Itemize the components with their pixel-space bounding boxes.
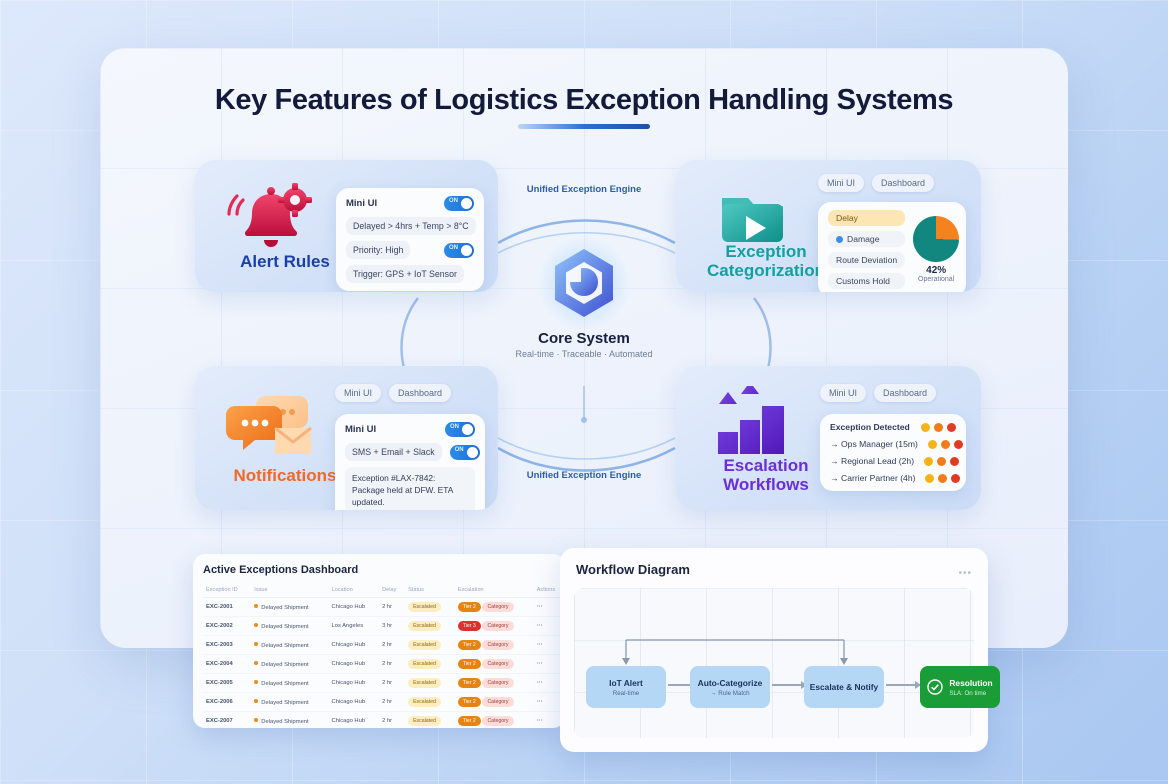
cell-status: Escalated xyxy=(405,712,455,729)
col-exception-id[interactable]: Exception ID xyxy=(203,583,251,598)
escalation-badge: Tier 2 xyxy=(458,659,481,669)
table-body: EXC-2001Delayed ShipmentChicago Hub2 hrE… xyxy=(203,598,565,729)
cell-location: Chicago Hub xyxy=(329,693,380,712)
severity-dots xyxy=(921,423,956,432)
cell-delay: 2 hr xyxy=(379,712,405,729)
notifications-mini-ui[interactable]: Mini UI ON SMS + Email + Slack ON Except… xyxy=(335,414,485,510)
status-dot-icon xyxy=(254,699,258,703)
col-location[interactable]: Location xyxy=(329,583,380,598)
table-header-row: Exception ID Issue Location Delay Status… xyxy=(203,583,565,598)
cell-escalation: Tier 2 Category xyxy=(455,655,534,674)
escalation-badge: Tier 2 xyxy=(458,678,481,688)
node-title: Resolution xyxy=(949,678,992,688)
col-status[interactable]: Status xyxy=(405,583,455,598)
status-badge: Escalated xyxy=(408,640,441,650)
status-dot-icon xyxy=(254,680,258,684)
dot-orange xyxy=(941,440,950,449)
status-badge: Escalated xyxy=(408,678,441,688)
dot-red xyxy=(950,457,959,466)
cell-exception-id: EXC-2003 xyxy=(203,636,251,655)
dot-orange xyxy=(934,423,943,432)
cell-status: Escalated xyxy=(405,598,455,617)
status-badge: Escalated xyxy=(408,659,441,669)
cell-location: Los Angeles xyxy=(329,617,380,636)
hub-title: Core System xyxy=(484,330,684,347)
table-row[interactable]: EXC-2007Delayed ShipmentChicago Hub2 hrE… xyxy=(203,712,565,729)
cell-delay: 2 hr xyxy=(379,693,405,712)
status-badge: Escalated xyxy=(408,716,441,726)
escalation-step-label: → Regional Lead (2h) xyxy=(830,456,914,466)
dot-yellow xyxy=(925,474,934,483)
toggle-on-label-2: ON xyxy=(449,245,458,251)
cell-location: Chicago Hub xyxy=(329,598,380,617)
cell-location: Chicago Hub xyxy=(329,655,380,674)
cell-escalation: Tier 2 Category xyxy=(455,636,534,655)
table-row[interactable]: EXC-2004Delayed ShipmentChicago Hub2 hrE… xyxy=(203,655,565,674)
cell-status: Escalated xyxy=(405,655,455,674)
pill-mini-ui-escalation[interactable]: Mini UI xyxy=(820,384,866,402)
dot-orange xyxy=(937,457,946,466)
escalation-badge: Tier 2 xyxy=(458,640,481,650)
table-row[interactable]: EXC-2001Delayed ShipmentChicago Hub2 hrE… xyxy=(203,598,565,617)
workflow-menu-icon[interactable]: ••• xyxy=(958,568,972,579)
category-badge: Category xyxy=(482,602,513,612)
title-underline xyxy=(518,124,650,129)
priority-toggle[interactable]: ON xyxy=(444,243,474,258)
category-badge: Category xyxy=(482,621,513,631)
cell-location: Chicago Hub xyxy=(329,636,380,655)
card-notifications[interactable]: Notifications Mini UI Dashboard Mini UI … xyxy=(195,366,498,510)
pill-mini-ui[interactable]: Mini UI xyxy=(818,174,864,192)
cell-exception-id: EXC-2004 xyxy=(203,655,251,674)
categorization-mini-ui[interactable]: Delay Damage Route Deviation Customs Hol… xyxy=(818,202,966,292)
node-subtitle: Real-time xyxy=(613,690,639,697)
cell-location: Chicago Hub xyxy=(329,712,380,729)
status-dot-icon xyxy=(254,661,258,665)
category-item-delay[interactable]: Delay xyxy=(828,210,905,226)
workflow-diagram-panel[interactable]: Workflow Diagram ••• IoT Alert Real-time… xyxy=(560,548,988,752)
cell-delay: 3 hr xyxy=(379,617,405,636)
escalation-badge: Tier 2 xyxy=(458,602,481,612)
rule-trigger: Trigger: GPS + IoT Sensor xyxy=(346,265,464,283)
hub-subtitle: Real-time · Traceable · Automated xyxy=(484,349,684,359)
cell-delay: 2 hr xyxy=(379,655,405,674)
severity-dots xyxy=(928,440,963,449)
table-row[interactable]: EXC-2002Delayed ShipmentLos Angeles3 hrE… xyxy=(203,617,565,636)
cell-issue: Delayed Shipment xyxy=(251,598,328,617)
category-item-route-deviation[interactable]: Route Deviation xyxy=(828,252,905,268)
cell-exception-id: EXC-2005 xyxy=(203,674,251,693)
cell-escalation: Tier 3 Category xyxy=(455,617,534,636)
pie-value: 42% xyxy=(913,265,959,276)
table-row[interactable]: EXC-2003Delayed ShipmentChicago Hub2 hrE… xyxy=(203,636,565,655)
notifications-pill-row: Mini UI Dashboard xyxy=(335,384,451,402)
category-badge: Category xyxy=(482,716,513,726)
col-issue[interactable]: Issue xyxy=(251,583,328,598)
toggle-on-label: ON xyxy=(449,198,458,204)
pie-graphic xyxy=(913,216,959,262)
hexagon-core-icon xyxy=(545,244,623,322)
arrow-3-icon xyxy=(886,684,920,686)
cell-escalation: Tier 2 Category xyxy=(455,712,534,729)
pill-dashboard-escalation[interactable]: Dashboard xyxy=(874,384,936,402)
pill-mini-ui-notifications[interactable]: Mini UI xyxy=(335,384,381,402)
cell-issue: Delayed Shipment xyxy=(251,674,328,693)
card-exception-categorization[interactable]: Exception Categorization Mini UI Dashboa… xyxy=(676,160,981,292)
node-subtitle: SLA: On time xyxy=(949,690,992,697)
arrow-2-icon xyxy=(772,684,806,686)
dashboard-title: Active Exceptions Dashboard xyxy=(203,564,565,576)
workflow-node-resolution[interactable]: Resolution SLA: On time xyxy=(920,666,1000,708)
escalation-step-label: → Carrier Partner (4h) xyxy=(830,473,915,483)
dot-yellow xyxy=(928,440,937,449)
category-list: Delay Damage Route Deviation Customs Hol… xyxy=(828,210,905,289)
escalation-step-row: → Ops Manager (15m) xyxy=(830,439,956,449)
status-dot-icon xyxy=(254,604,258,608)
rule-priority: Priority: High xyxy=(346,241,410,259)
status-dot-icon xyxy=(254,642,258,646)
dot-orange xyxy=(938,474,947,483)
node-title: Auto-Categorize xyxy=(698,678,763,688)
cell-escalation: Tier 2 Category xyxy=(455,693,534,712)
stairs-arrows-icon xyxy=(704,386,800,464)
notification-message: Exception #LAX-7842: Package held at DFW… xyxy=(345,467,475,510)
status-badge: Escalated xyxy=(408,697,441,707)
category-badge: Category xyxy=(482,640,513,650)
active-exceptions-dashboard[interactable]: Active Exceptions Dashboard Exception ID… xyxy=(193,554,565,728)
node-title: IoT Alert xyxy=(609,678,643,688)
operational-pie-chart: 42% Operational xyxy=(913,216,959,283)
escalation-step-row: Exception Detected xyxy=(830,422,956,432)
check-circle-icon xyxy=(927,679,943,695)
notification-channels: SMS + Email + Slack xyxy=(345,443,442,461)
status-dot-icon xyxy=(254,718,258,722)
cell-delay: 2 hr xyxy=(379,674,405,693)
notifications-mini-title: Mini UI xyxy=(345,424,376,435)
channels-toggle[interactable]: ON xyxy=(450,445,480,460)
category-item-damage[interactable]: Damage xyxy=(828,231,905,247)
rule-condition: Delayed > 4hrs + Temp > 8°C xyxy=(346,217,476,235)
status-badge: Escalated xyxy=(408,621,441,631)
page-title: Key Features of Logistics Exception Hand… xyxy=(100,84,1068,117)
dot-yellow xyxy=(924,457,933,466)
categorization-pill-row: Mini UI Dashboard xyxy=(818,174,934,192)
category-badge: Category xyxy=(482,697,513,707)
cell-exception-id: EXC-2007 xyxy=(203,712,251,729)
table-row[interactable]: EXC-2005Delayed ShipmentChicago Hub2 hrE… xyxy=(203,674,565,693)
workflow-title: Workflow Diagram xyxy=(576,562,972,577)
category-badge: Category xyxy=(482,659,513,669)
dot-red xyxy=(951,474,960,483)
col-delay[interactable]: Delay xyxy=(379,583,405,598)
card-alert-rules[interactable]: Alert Rules Mini UI ON Delayed > 4hrs + … xyxy=(195,160,498,292)
escalation-badge: Tier 2 xyxy=(458,697,481,707)
workflow-node-iot-alert[interactable]: IoT Alert Real-time xyxy=(586,666,666,708)
notif-toggle-on-label: ON xyxy=(450,424,459,430)
status-badge: Escalated xyxy=(408,602,441,612)
cell-exception-id: EXC-2006 xyxy=(203,693,251,712)
workflow-node-auto-categorize[interactable]: Auto-Categorize → Rule Match xyxy=(690,666,770,708)
workflow-canvas: IoT Alert Real-time Auto-Categorize → Ru… xyxy=(574,588,974,738)
category-item-customs-hold[interactable]: Customs Hold xyxy=(828,273,905,289)
alert-rules-mini-ui[interactable]: Mini UI ON Delayed > 4hrs + Temp > 8°C P… xyxy=(336,188,484,291)
dot-yellow xyxy=(921,423,930,432)
cell-issue: Delayed Shipment xyxy=(251,712,328,729)
pill-dashboard[interactable]: Dashboard xyxy=(872,174,934,192)
cell-escalation: Tier 2 Category xyxy=(455,674,534,693)
cell-status: Escalated xyxy=(405,693,455,712)
cell-status: Escalated xyxy=(405,617,455,636)
escalation-step-label: → Ops Manager (15m) xyxy=(830,439,918,449)
alert-enabled-toggle[interactable]: ON xyxy=(444,196,474,211)
cell-exception-id: EXC-2001 xyxy=(203,598,251,617)
channels-toggle-on-label: ON xyxy=(455,447,464,453)
col-escalation[interactable]: Escalation xyxy=(455,583,534,598)
cell-delay: 2 hr xyxy=(379,598,405,617)
cell-escalation: Tier 2 Category xyxy=(455,598,534,617)
workflow-node-escalate-notify[interactable]: Escalate & Notify xyxy=(804,666,884,708)
node-subtitle: → Rule Match xyxy=(710,690,749,697)
table-row[interactable]: EXC-2006Delayed ShipmentChicago Hub2 hrE… xyxy=(203,693,565,712)
cell-issue: Delayed Shipment xyxy=(251,617,328,636)
bell-gear-icon xyxy=(223,178,319,256)
damage-dot-icon xyxy=(836,236,843,243)
node-title: Escalate & Notify xyxy=(810,682,878,693)
category-badge: Category xyxy=(482,678,513,688)
cell-exception-id: EXC-2002 xyxy=(203,617,251,636)
severity-dots xyxy=(924,457,959,466)
chat-envelope-icon xyxy=(223,388,319,466)
severity-dots xyxy=(925,474,960,483)
escalation-step-row: → Regional Lead (2h) xyxy=(830,456,956,466)
pie-caption: Operational xyxy=(913,276,959,283)
pill-dashboard-notifications[interactable]: Dashboard xyxy=(389,384,451,402)
escalation-mini-ui[interactable]: Exception Detected → Ops Manager (15m) →… xyxy=(820,414,966,491)
dot-red xyxy=(947,423,956,432)
card-escalation-workflows[interactable]: Escalation Workflows Mini UI Dashboard E… xyxy=(676,366,981,510)
core-system-hub: Core System Real-time · Traceable · Auto… xyxy=(484,244,684,359)
cell-status: Escalated xyxy=(405,674,455,693)
status-dot-icon xyxy=(254,623,258,627)
cell-status: Escalated xyxy=(405,636,455,655)
dot-red xyxy=(954,440,963,449)
notifications-toggle[interactable]: ON xyxy=(445,422,475,437)
cell-delay: 2 hr xyxy=(379,636,405,655)
escalation-pill-row: Mini UI Dashboard xyxy=(820,384,936,402)
cell-issue: Delayed Shipment xyxy=(251,693,328,712)
escalation-badge: Tier 2 xyxy=(458,716,481,726)
escalation-badge: Tier 3 xyxy=(458,621,481,631)
cell-issue: Delayed Shipment xyxy=(251,636,328,655)
escalation-step-label: Exception Detected xyxy=(830,422,910,432)
escalation-step-row: → Carrier Partner (4h) xyxy=(830,473,956,483)
cell-issue: Delayed Shipment xyxy=(251,655,328,674)
cell-location: Chicago Hub xyxy=(329,674,380,693)
mini-ui-title: Mini UI xyxy=(346,198,377,209)
exceptions-table: Exception ID Issue Location Delay Status… xyxy=(203,583,565,728)
